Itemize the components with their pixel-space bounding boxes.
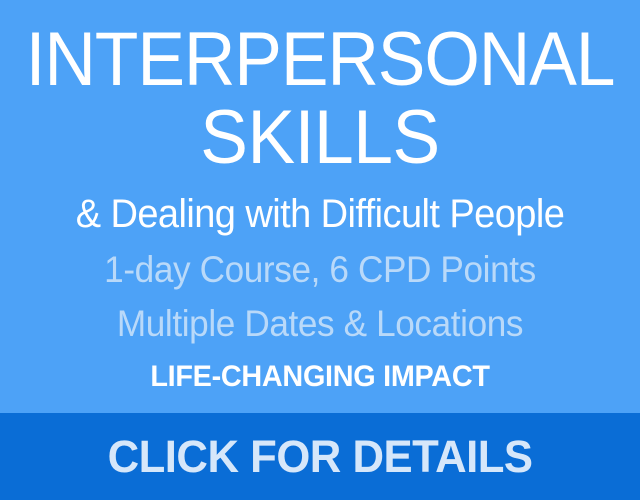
click-for-details-button[interactable]: CLICK FOR DETAILS <box>0 413 640 500</box>
cta-label: CLICK FOR DETAILS <box>107 434 532 479</box>
headline-line-2: SKILLS <box>19 99 621 177</box>
banner-content: INTERPERSONAL SKILLS & Dealing with Diff… <box>0 0 640 413</box>
impact-tagline: LIFE-CHANGING IMPACT <box>13 361 627 393</box>
advertisement-banner[interactable]: INTERPERSONAL SKILLS & Dealing with Diff… <box>0 0 640 500</box>
detail-dates-locations: Multiple Dates & Locations <box>16 305 624 344</box>
subheadline: & Dealing with Difficult People <box>16 193 624 235</box>
headline-line-1: INTERPERSONAL <box>19 22 621 97</box>
detail-course-duration: 1-day Course, 6 CPD Points <box>16 251 624 290</box>
